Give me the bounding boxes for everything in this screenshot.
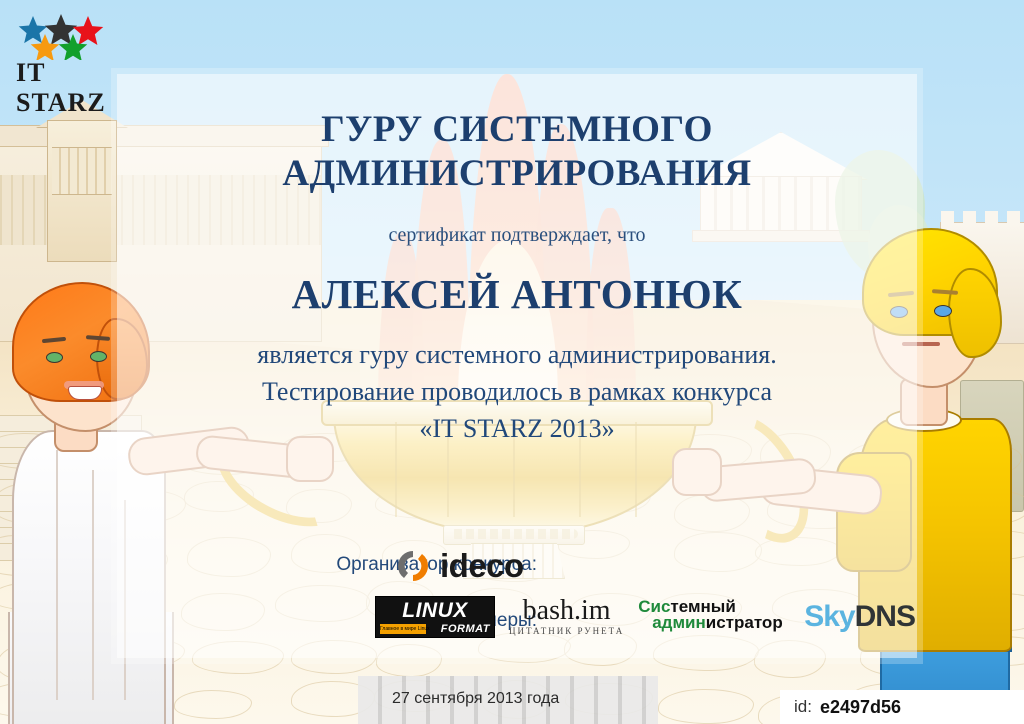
description-line-2: Тестирование проводилось в рамках конкур…	[117, 373, 917, 410]
title-line-2: АДМИНИСТРИРОВАНИЯ	[117, 152, 917, 196]
bash-im-logo[interactable]: bash.im ЦИТАТНИК РУНЕТА	[509, 597, 624, 637]
fortress-crenellation	[941, 211, 1024, 224]
linux-format-logo[interactable]: LINUX Главное в мире Linux FORMAT	[375, 596, 495, 638]
tower	[47, 120, 117, 262]
woman-mouth	[68, 386, 102, 400]
certificate-subtitle: сертификат подтверждает, что	[117, 224, 917, 247]
ideco-swirl-icon	[395, 548, 431, 584]
page-title: ГУРУ СИСТЕМНОГО АДМИНИСТРИРОВАНИЯ	[117, 108, 917, 196]
recipient-name: АЛЕКСЕЙ АНТОНЮК	[117, 270, 917, 318]
skydns-sky: Sky	[804, 600, 854, 633]
linux-format-format-word: FORMAT	[441, 623, 490, 635]
logo-text: IT STARZ	[16, 58, 114, 118]
sysadmin-line-2: администратор	[652, 614, 783, 632]
woman-eye-left	[46, 352, 63, 363]
ideco-wordmark: ideco	[440, 547, 524, 585]
man-eye-right	[934, 305, 952, 317]
ideco-logo[interactable]: ideco	[395, 546, 524, 586]
certificate-description: является гуру системного администрирован…	[117, 336, 917, 447]
partner-logos: LINUX Главное в мире Linux FORMAT bash.i…	[375, 596, 915, 638]
star-red-icon	[73, 16, 103, 45]
stars-svg	[14, 14, 114, 60]
certificate-date: 27 сентября 2013 года	[392, 690, 559, 708]
sistemny-administrator-logo[interactable]: Системный администратор	[638, 598, 790, 636]
it-starz-logo: IT STARZ	[14, 14, 114, 94]
paving-stone	[658, 689, 754, 724]
organizer-row: Организатор конкурса: ideco	[117, 546, 917, 586]
title-line-1: ГУРУ СИСТЕМНОГО	[117, 108, 917, 152]
certificate-canvas: IT STARZ ГУРУ СИСТЕМНОГО АДМИНИСТРИРОВАН…	[0, 0, 1024, 724]
skydns-logo[interactable]: SkyDNS	[804, 600, 915, 634]
linux-format-tagline-bar: Главное в мире Linux	[380, 624, 426, 634]
sysadmin-line2-black: истратор	[706, 613, 783, 632]
partners-row: Партнеры: LINUX Главное в мире Linux FOR…	[117, 596, 917, 640]
sysadmin-line2-green: админ	[652, 613, 706, 632]
bash-im-tagline: ЦИТАТНИК РУНЕТА	[509, 625, 624, 637]
skydns-dns: DNS	[855, 600, 915, 633]
woman-eye-right	[90, 351, 107, 362]
paving-stone	[174, 690, 253, 718]
bash-im-word: bash.im	[523, 597, 611, 625]
certificate-id-label: id:	[794, 697, 812, 717]
linux-format-word: LINUX	[380, 600, 490, 622]
logo-stars	[14, 14, 114, 60]
linux-format-tagline: Главное в мире Linux	[380, 624, 426, 634]
certificate-id-box: id: e2497d56	[780, 690, 1024, 724]
certificate-content: ГУРУ СИСТЕМНОГО АДМИНИСТРИРОВАНИЯ сертиф…	[117, 74, 917, 658]
description-line-3: «IT STARZ 2013»	[117, 410, 917, 447]
description-line-1: является гуру системного администрирован…	[117, 336, 917, 373]
tower-columns	[52, 147, 112, 195]
certificate-id-value: e2497d56	[820, 697, 901, 718]
